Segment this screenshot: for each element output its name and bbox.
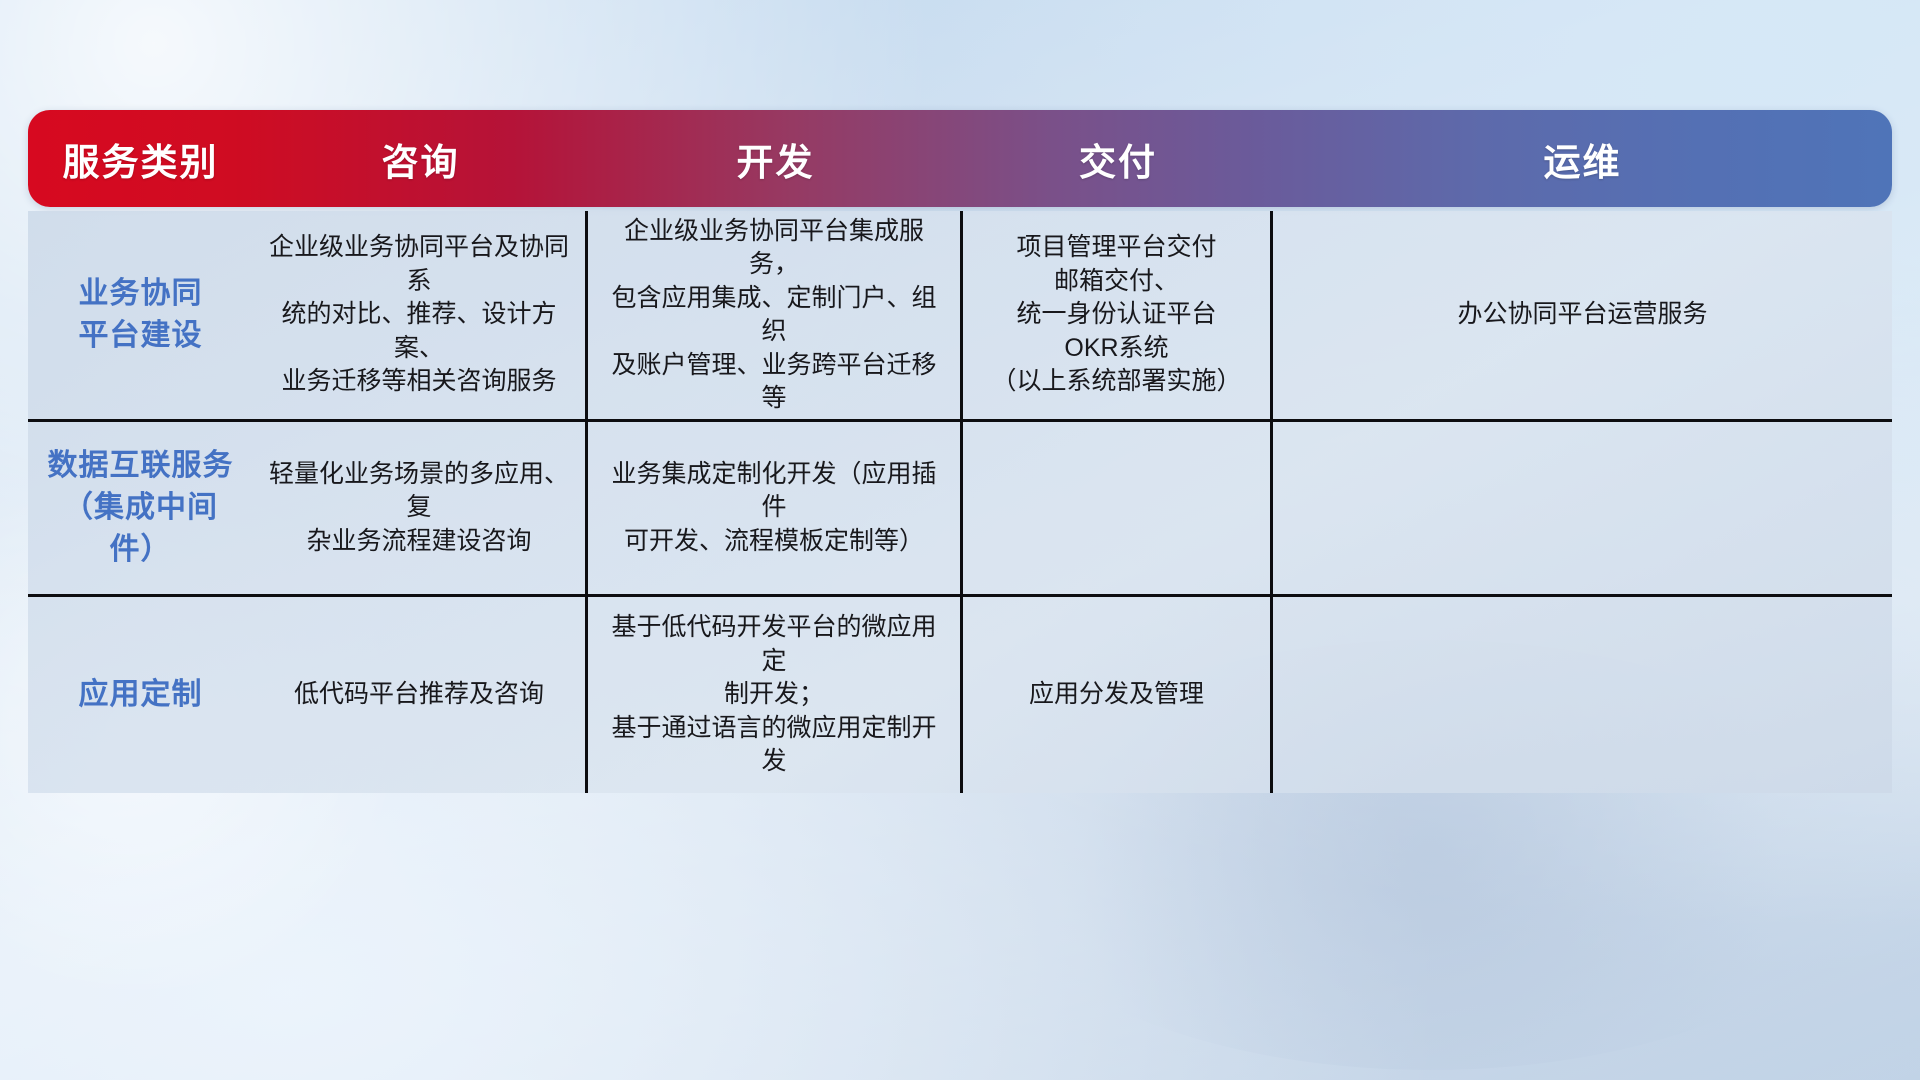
cell-consulting: 轻量化业务场景的多应用、复 杂业务流程建设咨询 [253, 422, 588, 594]
cell-text: 企业级业务协同平台及协同系 统的对比、推荐、设计方案、 业务迁移等相关咨询服务 [267, 231, 571, 399]
cell-development: 基于低代码开发平台的微应用定 制开发； 基于通过语言的微应用定制开发 [588, 597, 963, 793]
cell-delivery: 项目管理平台交付 邮箱交付、 统一身份认证平台 OKR系统 （以上系统部署实施） [963, 211, 1273, 419]
header-operations: 运维 [1273, 110, 1892, 207]
table-row: 业务协同 平台建设 企业级业务协同平台及协同系 统的对比、推荐、设计方案、 业务… [28, 211, 1892, 422]
cell-development: 业务集成定制化开发（应用插件 可开发、流程模板定制等） [588, 422, 963, 594]
cell-operations [1273, 597, 1892, 793]
header-label: 交付 [1079, 132, 1157, 186]
cell-text: 基于低代码开发平台的微应用定 制开发； 基于通过语言的微应用定制开发 [602, 611, 946, 779]
header-label: 咨询 [382, 132, 460, 186]
header-label: 开发 [737, 132, 815, 186]
header-label: 服务类别 [63, 132, 219, 186]
header-label: 运维 [1544, 132, 1622, 186]
header-development: 开发 [588, 110, 963, 207]
row-label-text: 数据互联服务 （集成中间件） [42, 445, 239, 571]
cell-text: 轻量化业务场景的多应用、复 杂业务流程建设咨询 [267, 458, 571, 559]
table-row: 数据互联服务 （集成中间件） 轻量化业务场景的多应用、复 杂业务流程建设咨询 业… [28, 422, 1892, 597]
row-label: 业务协同 平台建设 [28, 211, 253, 419]
cell-text: 低代码平台推荐及咨询 [294, 678, 544, 712]
cell-text: 企业级业务协同平台集成服务， 包含应用集成、定制门户、组织 及账户管理、业务跨平… [602, 215, 946, 416]
cell-consulting: 企业级业务协同平台及协同系 统的对比、推荐、设计方案、 业务迁移等相关咨询服务 [253, 211, 588, 419]
table-body: 业务协同 平台建设 企业级业务协同平台及协同系 统的对比、推荐、设计方案、 业务… [28, 211, 1892, 793]
header-delivery: 交付 [963, 110, 1273, 207]
header-consulting: 咨询 [253, 110, 588, 207]
header-service-category: 服务类别 [28, 110, 253, 207]
table-header-row: 服务类别 咨询 开发 交付 运维 [28, 110, 1892, 207]
row-label-text: 应用定制 [79, 674, 203, 716]
row-label: 应用定制 [28, 597, 253, 793]
cell-development: 企业级业务协同平台集成服务， 包含应用集成、定制门户、组织 及账户管理、业务跨平… [588, 211, 963, 419]
cell-consulting: 低代码平台推荐及咨询 [253, 597, 588, 793]
cell-delivery [963, 422, 1273, 594]
row-label-text: 业务协同 平台建设 [79, 273, 203, 357]
cell-delivery: 应用分发及管理 [963, 597, 1273, 793]
cell-text: 项目管理平台交付 邮箱交付、 统一身份认证平台 OKR系统 （以上系统部署实施） [991, 231, 1241, 399]
cell-operations: 办公协同平台运营服务 [1273, 211, 1892, 419]
service-matrix-table: 服务类别 咨询 开发 交付 运维 业务协同 平台建设 企业级业务协同平台及协同系… [28, 110, 1892, 793]
cell-text: 应用分发及管理 [1029, 678, 1204, 712]
table-row: 应用定制 低代码平台推荐及咨询 基于低代码开发平台的微应用定 制开发； 基于通过… [28, 597, 1892, 793]
row-label: 数据互联服务 （集成中间件） [28, 422, 253, 594]
cell-operations [1273, 422, 1892, 594]
cell-text: 办公协同平台运营服务 [1457, 298, 1707, 332]
cell-text: 业务集成定制化开发（应用插件 可开发、流程模板定制等） [602, 458, 946, 559]
